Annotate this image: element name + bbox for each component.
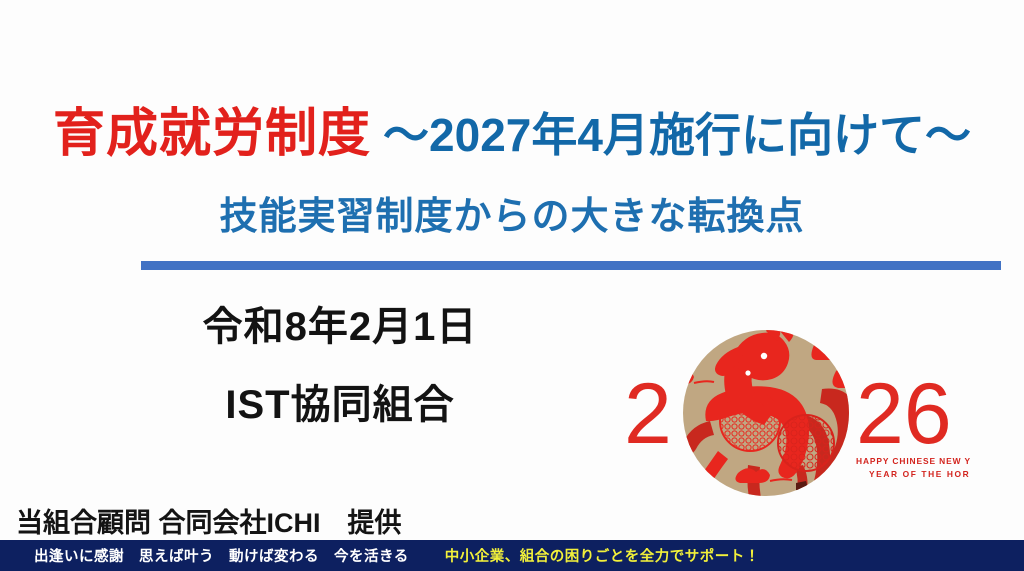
slide-subtitle: 技能実習制度からの大きな転換点 — [0, 198, 1024, 236]
title-sub-text: ～2027年4月施行に向けて～ — [383, 109, 971, 161]
zodiac-year-right: 26 — [856, 366, 952, 462]
banner-support-text: 中小企業、組合の困りごとを全力でサポート！ — [445, 545, 760, 566]
bottom-banner: 出逢いに感謝 思えば叶う 動けば変わる 今を活きる 中小企業、組合の困りごとを全… — [0, 540, 1024, 571]
organization-name: IST協同組合 — [110, 372, 570, 430]
slide-title: 育成就労制度～2027年4月施行に向けて～ — [0, 108, 1024, 160]
zodiac-greeting-line2: YEAR OF THE HORSE — [869, 469, 970, 479]
provider-credit: 当組合顧問 合同会社ICHI 提供 — [16, 501, 402, 540]
presentation-slide: 育成就労制度～2027年4月施行に向けて～ 技能実習制度からの大きな転換点 令和… — [0, 0, 1024, 571]
presentation-date: 令和8年2月1日 — [110, 294, 570, 352]
zodiac-year-left: 2 — [624, 366, 672, 462]
subtitle-text: 技能実習制度からの大きな転換点 — [219, 196, 804, 238]
zodiac-greeting-line1: HAPPY CHINESE NEW YEAR! — [856, 456, 970, 466]
zodiac-horse-illustration: 2 26 — [598, 325, 970, 505]
banner-slogan-text: 出逢いに感謝 思えば叶う 動けば変わる 今を活きる — [34, 545, 409, 566]
title-main-text: 育成就労制度 — [53, 105, 371, 163]
horizontal-divider — [141, 261, 1001, 270]
